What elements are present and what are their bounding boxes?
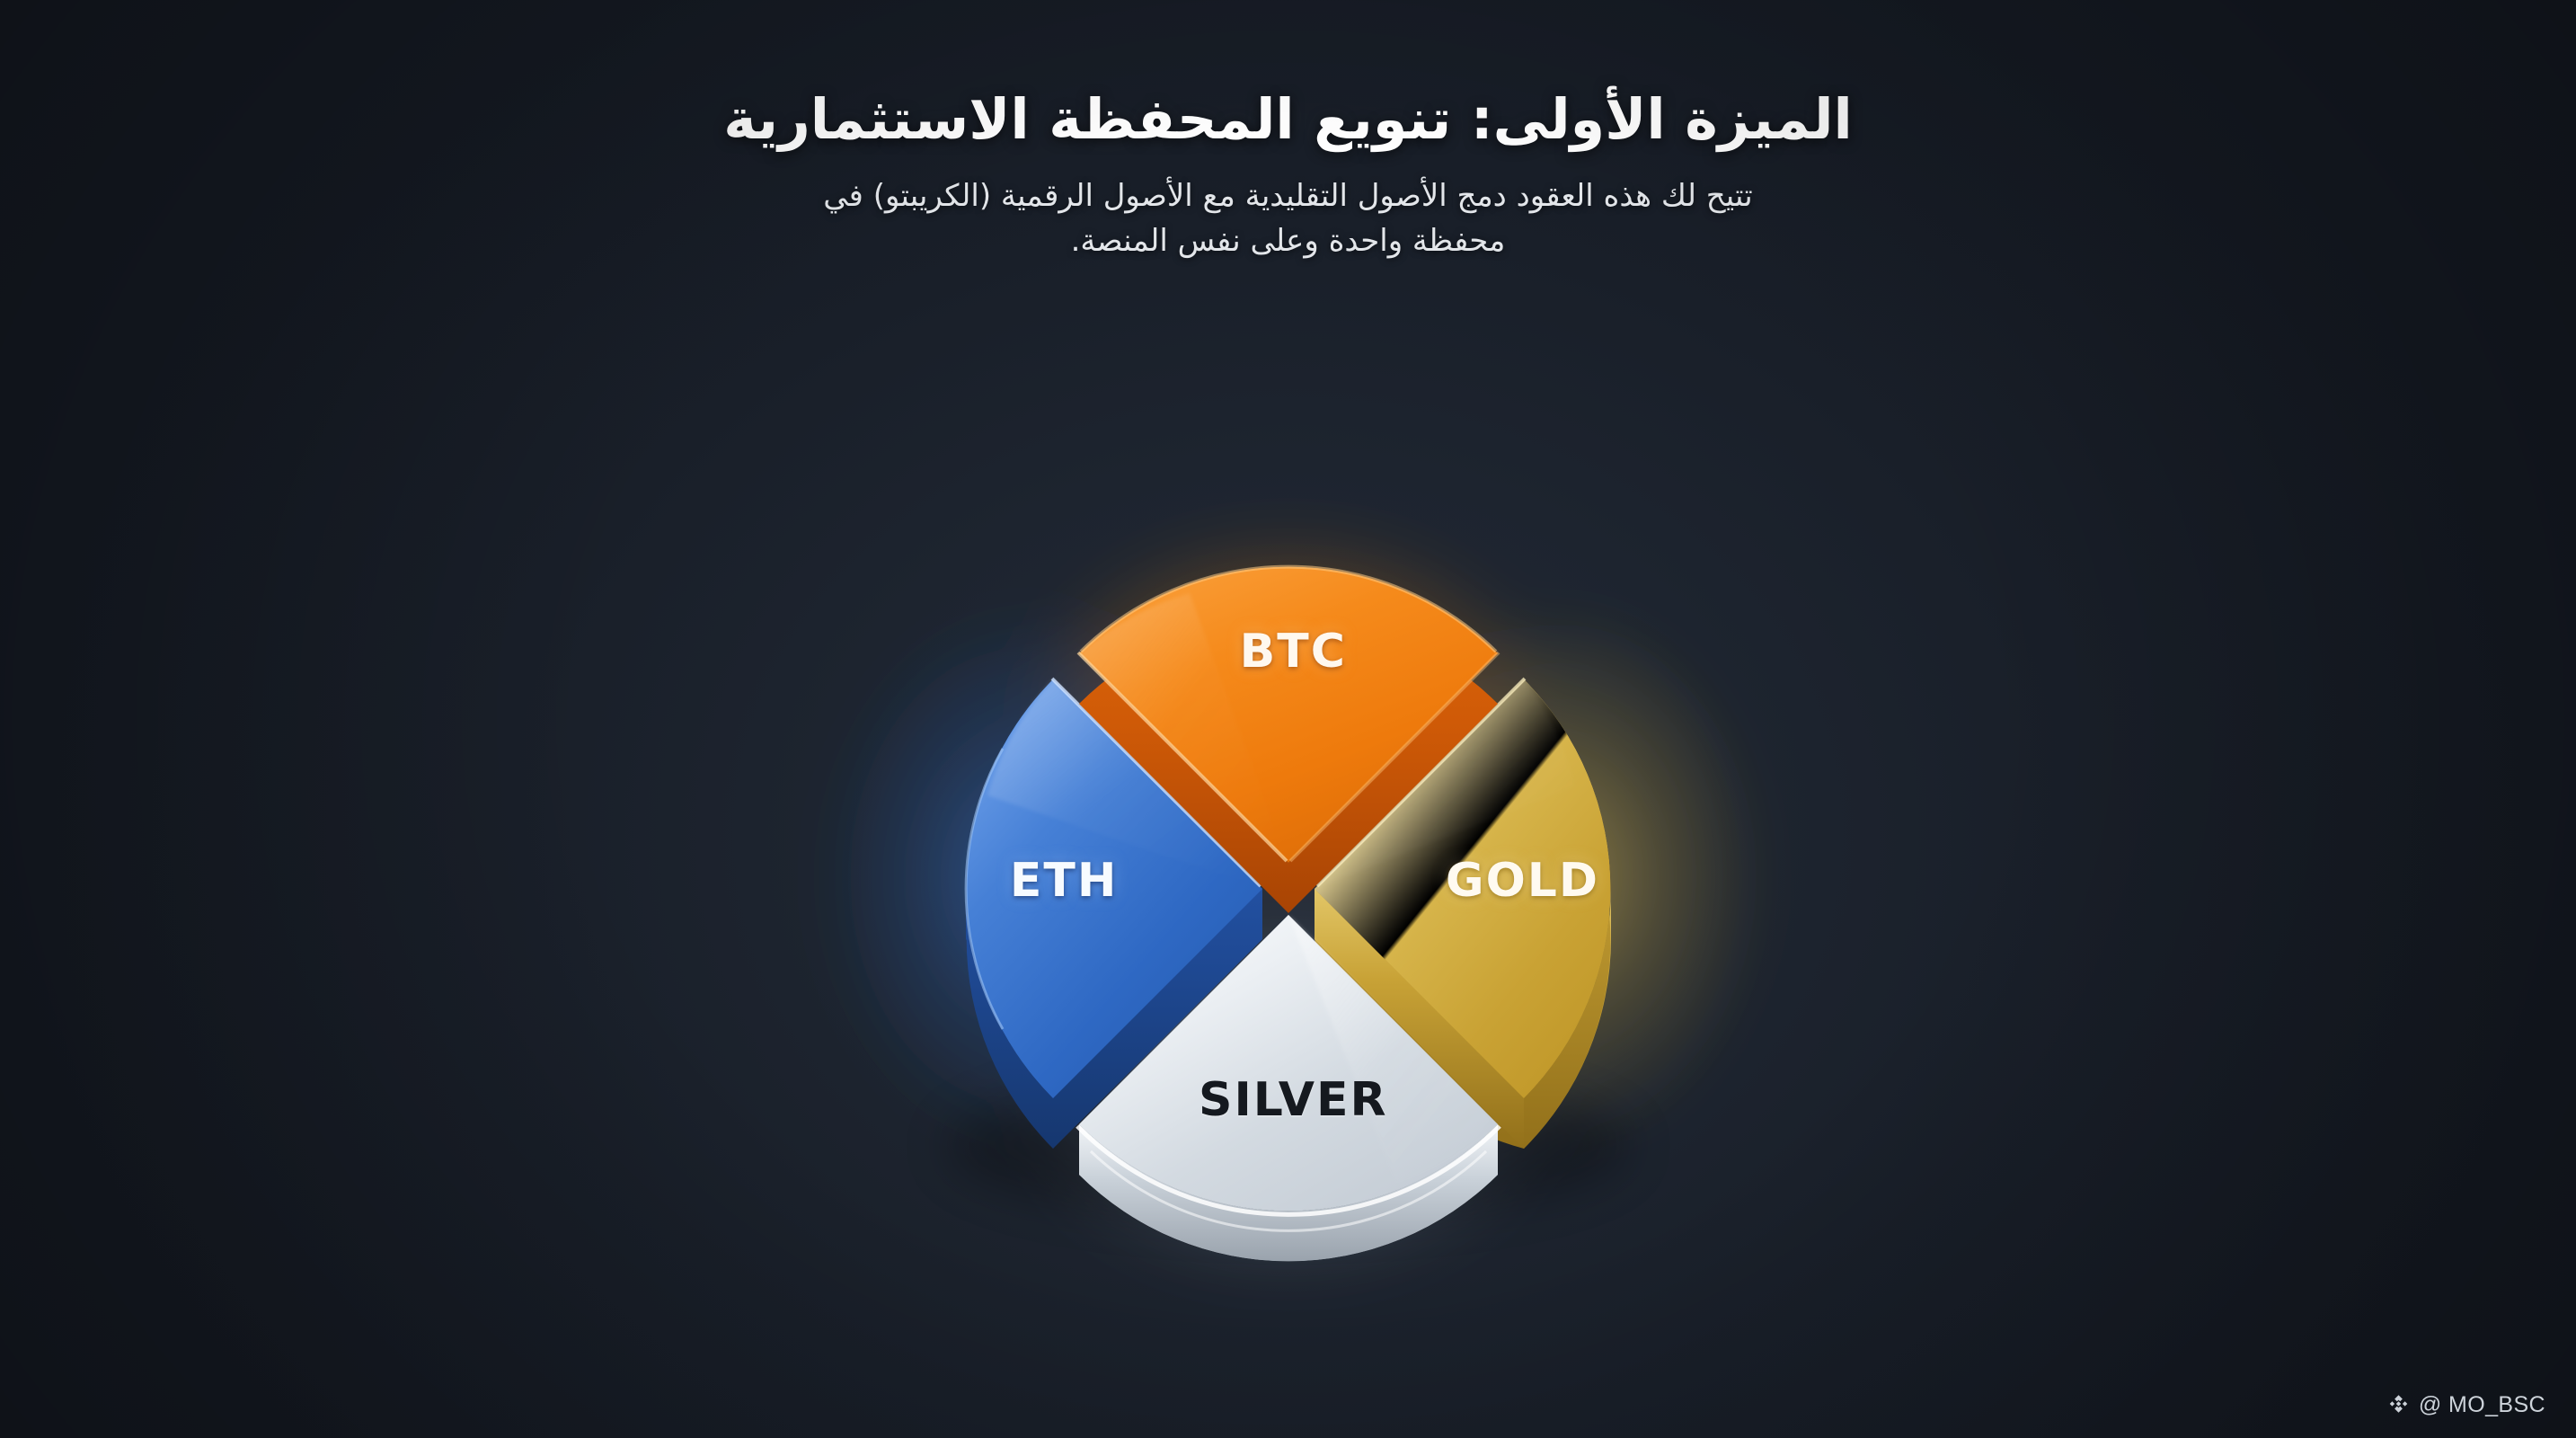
subtitle-line-2: محفظة واحدة وعلى نفس المنصة. — [731, 218, 1846, 263]
page-title: الميزة الأولى: تنويع المحفظة الاستثمارية — [435, 86, 2142, 152]
watermark-handle: @ MO_BSC — [2419, 1392, 2545, 1418]
page-subtitle: تتيح لك هذه العقود دمج الأصول التقليدية … — [731, 173, 1846, 264]
subtitle-line-1: تتيح لك هذه العقود دمج الأصول التقليدية … — [731, 173, 1846, 218]
pie-chart: BTC GOLD SILVER ETH — [767, 409, 1810, 1362]
pie-chart-svg — [767, 409, 1810, 1362]
watermark: @ MO_BSC — [2386, 1392, 2545, 1418]
header: الميزة الأولى: تنويع المحفظة الاستثمارية… — [0, 86, 2576, 264]
binance-diamond-icon — [2386, 1393, 2411, 1417]
slide-canvas: الميزة الأولى: تنويع المحفظة الاستثمارية… — [0, 0, 2576, 1438]
